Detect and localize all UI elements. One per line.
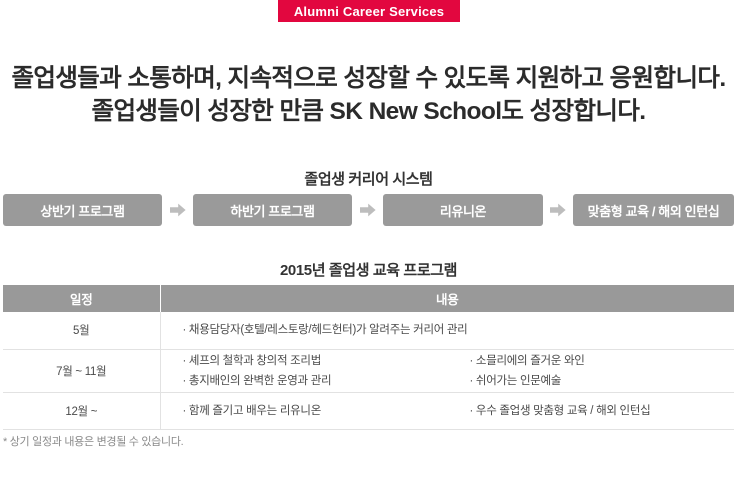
arrow-right-icon	[550, 203, 566, 217]
content-column-left: · 함께 즐기고 배우는 리유니온	[183, 401, 470, 421]
table-cell-schedule: 5월	[3, 312, 160, 349]
badge-row: Alumni Career Services	[0, 0, 737, 22]
list-item: · 총지배인의 완벽한 운영과 관리	[183, 371, 470, 391]
content-column-left: · 셰프의 철학과 창의적 조리법 · 총지배인의 완벽한 운영과 관리	[183, 351, 470, 391]
table-cell-content: · 채용담당자(호텔/레스토랑/헤드헌터)가 알려주는 커리어 관리	[160, 312, 734, 349]
education-program-table: 일정 내용 5월 · 채용담당자(호텔/레스토랑/헤드헌터)가 알려주는 커리어…	[3, 285, 734, 430]
arrow-right-icon	[360, 203, 376, 217]
flow-step-first-half-program: 상반기 프로그램	[3, 194, 162, 226]
list-item: · 우수 졸업생 맞춤형 교육 / 해외 인턴십	[470, 401, 737, 421]
content-column-right: · 우수 졸업생 맞춤형 교육 / 해외 인턴십	[470, 401, 737, 421]
flow-step-custom-education-overseas-internship: 맞춤형 교육 / 해외 인턴십	[573, 194, 734, 226]
table-row: 12월 ~ · 함께 즐기고 배우는 리유니온 · 우수 졸업생 맞춤형 교육 …	[3, 392, 734, 429]
flow-step-reunion: 리유니온	[383, 194, 543, 226]
headline-line-2: 졸업생들이 성장한 만큼 SK New School도 성장합니다.	[0, 95, 737, 128]
list-item: · 쉬어가는 인문예술	[470, 371, 737, 391]
table-footnote: * 상기 일정과 내용은 변경될 수 있습니다.	[3, 433, 183, 449]
table-row: 5월 · 채용담당자(호텔/레스토랑/헤드헌터)가 알려주는 커리어 관리	[3, 312, 734, 349]
page-headline: 졸업생들과 소통하며, 지속적으로 성장할 수 있도록 지원하고 응원합니다. …	[0, 62, 737, 128]
flow-step-second-half-program: 하반기 프로그램	[193, 194, 352, 226]
table-row: 7월 ~ 11월 · 셰프의 철학과 창의적 조리법 · 총지배인의 완벽한 운…	[3, 349, 734, 392]
table-cell-content: · 함께 즐기고 배우는 리유니온 · 우수 졸업생 맞춤형 교육 / 해외 인…	[160, 392, 734, 429]
table-cell-content: · 셰프의 철학과 창의적 조리법 · 총지배인의 완벽한 운영과 관리 · 소…	[160, 349, 734, 392]
list-item: · 함께 즐기고 배우는 리유니온	[183, 401, 470, 421]
list-item: · 셰프의 철학과 창의적 조리법	[183, 351, 470, 371]
program-table-title: 2015년 졸업생 교육 프로그램	[0, 259, 737, 280]
headline-line-1: 졸업생들과 소통하며, 지속적으로 성장할 수 있도록 지원하고 응원합니다.	[0, 62, 737, 95]
table-cell-schedule: 12월 ~	[3, 392, 160, 429]
career-system-title: 졸업생 커리어 시스템	[0, 168, 737, 189]
content-column-right: · 소믈리에의 즐거운 와인 · 쉬어가는 인문예술	[470, 351, 737, 391]
table-header-row: 일정 내용	[3, 285, 734, 312]
list-item: · 소믈리에의 즐거운 와인	[470, 351, 737, 371]
arrow-right-icon	[170, 203, 186, 217]
table-cell-schedule: 7월 ~ 11월	[3, 349, 160, 392]
alumni-career-services-page: Alumni Career Services 졸업생들과 소통하며, 지속적으로…	[0, 0, 737, 501]
table-header-schedule: 일정	[3, 285, 160, 312]
table-header-content: 내용	[160, 285, 734, 312]
alumni-career-services-badge: Alumni Career Services	[278, 0, 460, 22]
content-column-left: · 채용담당자(호텔/레스토랑/헤드헌터)가 알려주는 커리어 관리	[183, 320, 470, 340]
career-system-flow: 상반기 프로그램 하반기 프로그램 리유니온 맞춤형 교육 / 해외 인턴십	[0, 194, 737, 226]
list-item: · 채용담당자(호텔/레스토랑/헤드헌터)가 알려주는 커리어 관리	[183, 320, 470, 340]
